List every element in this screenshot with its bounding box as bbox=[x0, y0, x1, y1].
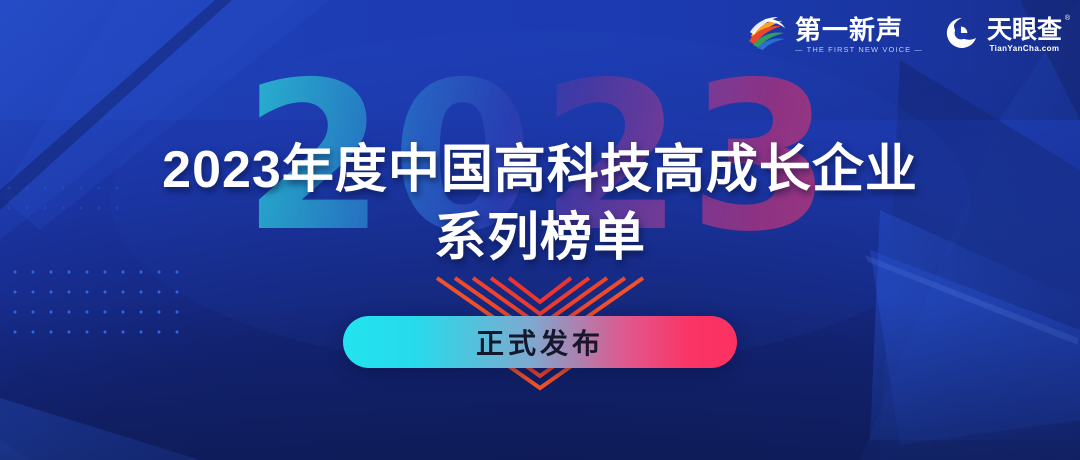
tianyancha-name-cn: 天眼查 bbox=[987, 16, 1062, 44]
first-voice-name-cn: 第一新声 bbox=[795, 17, 923, 44]
release-badge[interactable]: 正式发布 bbox=[343, 316, 737, 368]
tianyancha-text: 天眼查 ® TianYanCha.com bbox=[987, 17, 1062, 54]
promo-banner: 2023 2023年度中国高科技高成长企业 系列榜单 正式发布 bbox=[0, 0, 1080, 460]
tianyancha-trademark: ® bbox=[1065, 15, 1070, 22]
logo-bar: 第一新声 — THE FIRST NEW VOICE — 天眼查 ® TianY… bbox=[747, 14, 1062, 57]
headline-line-1: 2023年度中国高科技高成长企业 bbox=[0, 136, 1080, 204]
tianyancha-domain: TianYanCha.com bbox=[987, 43, 1062, 54]
first-voice-text: 第一新声 — THE FIRST NEW VOICE — bbox=[795, 17, 923, 55]
logo-tianyancha[interactable]: 天眼查 ® TianYanCha.com bbox=[945, 16, 1062, 55]
page-title: 2023年度中国高科技高成长企业 系列榜单 bbox=[0, 136, 1080, 272]
first-voice-mark-icon bbox=[747, 14, 787, 57]
release-pill[interactable]: 正式发布 bbox=[343, 316, 737, 368]
release-pill-label: 正式发布 bbox=[476, 322, 604, 362]
logo-first-voice[interactable]: 第一新声 — THE FIRST NEW VOICE — bbox=[747, 14, 923, 57]
first-voice-tagline: — THE FIRST NEW VOICE — bbox=[795, 44, 923, 55]
tianyancha-name-wrap: 天眼查 ® bbox=[987, 17, 1062, 43]
headline-line-2: 系列榜单 bbox=[0, 204, 1080, 272]
tianyancha-eye-icon bbox=[945, 16, 979, 55]
